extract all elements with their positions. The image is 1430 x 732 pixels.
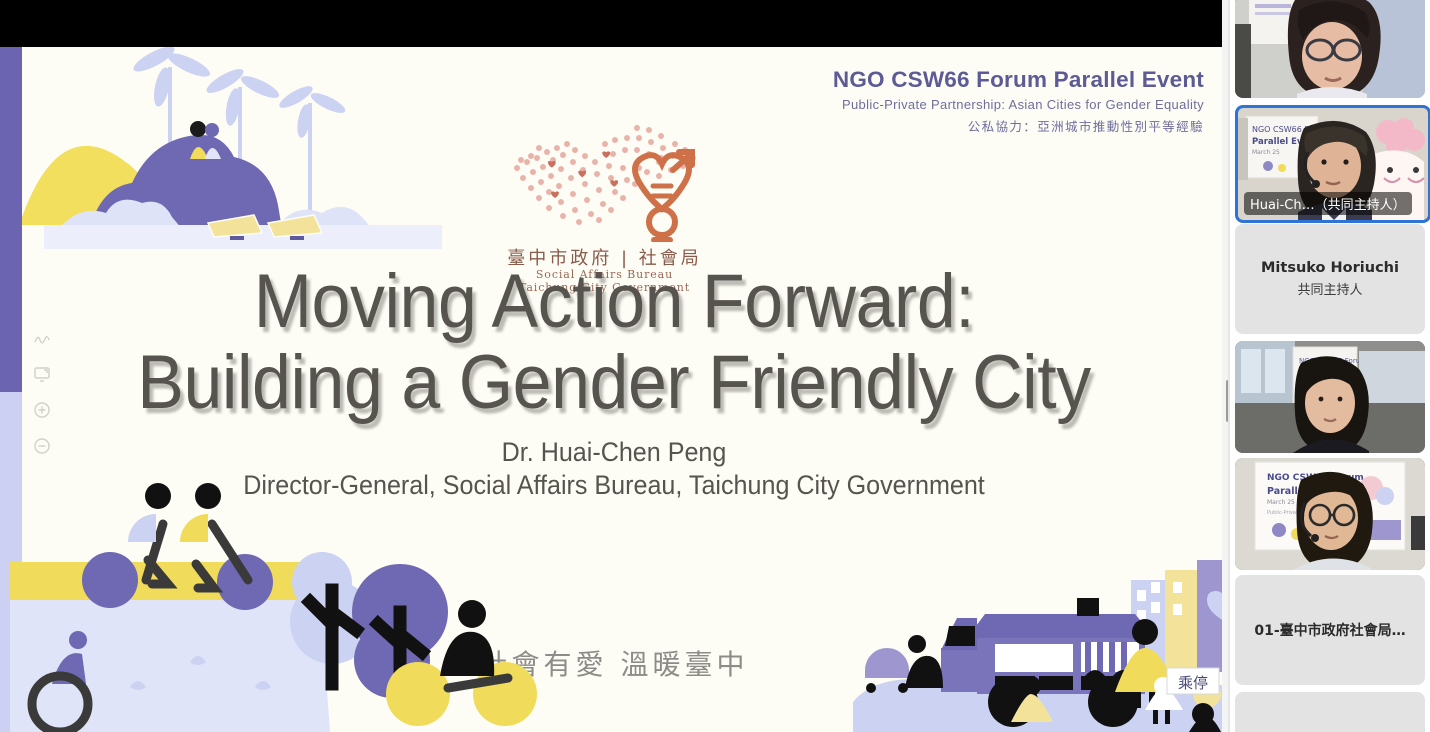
participant-tile[interactable]: Mitsuko Horiuchi 共同主持人 — [1235, 224, 1425, 334]
slide-title-block: Moving Action Forward: Building a Gender… — [0, 262, 1228, 501]
participant-name-label: Mitsuko Horiuchi — [1261, 260, 1399, 276]
slide-title-line1: Moving Action Forward: — [49, 262, 1179, 343]
participant-filmstrip[interactable]: NGO CSW66 F… Parallel Event March 25 — [1230, 0, 1430, 732]
illustration-cyclists-park — [0, 472, 560, 732]
slide-header-title: NGO CSW66 Forum Parallel Event — [833, 67, 1204, 93]
no-video-placeholder — [1235, 692, 1425, 732]
participant-tile[interactable]: NGO CSW66 Forum Parallel Event March 25 … — [1235, 458, 1425, 570]
slide-header: NGO CSW66 Forum Parallel Event Public-Pr… — [833, 67, 1204, 135]
zoom-meeting-window: NGO CSW66 Forum Parallel Event Public-Pr… — [0, 0, 1430, 732]
svg-text:March 25: March 25 — [1267, 499, 1295, 506]
participant-tile[interactable]: NGO CSW66 Forum Parallel Event — [1235, 341, 1425, 453]
video-feed — [1235, 0, 1425, 98]
participant-tile-active-speaker[interactable]: NGO CSW66 F… Parallel Event March 25 — [1235, 105, 1430, 223]
slide-header-subtitle: Public-Private Partnership: Asian Cities… — [833, 97, 1204, 112]
no-video-placeholder: Mitsuko Horiuchi 共同主持人 — [1235, 224, 1425, 334]
zoom-out-icon[interactable] — [28, 428, 56, 464]
slide-title-line2: Building a Gender Friendly City — [49, 343, 1179, 424]
video-feed: NGO CSW66 Forum Parallel Event March 25 … — [1235, 458, 1425, 570]
video-feed: NGO CSW66 Forum Parallel Event — [1235, 341, 1425, 453]
annotation-toolbar[interactable] — [28, 320, 58, 464]
draw-icon[interactable] — [28, 320, 56, 356]
screen-icon[interactable] — [28, 356, 56, 392]
shared-screen-area[interactable]: NGO CSW66 Forum Parallel Event Public-Pr… — [0, 0, 1228, 732]
bus-stop-sign-text: 乘停 — [1178, 674, 1208, 692]
presentation-slide: NGO CSW66 Forum Parallel Event Public-Pr… — [0, 47, 1228, 732]
no-video-placeholder: 01-臺中市政府社會局… — [1235, 575, 1425, 685]
letterbox-bar-top — [0, 0, 1228, 47]
zoom-in-icon[interactable] — [28, 392, 56, 428]
heart-map-logo-icon — [487, 122, 722, 242]
illustration-windfarm — [22, 47, 442, 272]
participant-tile[interactable] — [1235, 0, 1425, 98]
participant-name-label: 01-臺中市政府社會局… — [1254, 620, 1405, 640]
svg-text:March 25: March 25 — [1252, 149, 1280, 156]
slide-header-subtitle-zh: 公私協力：亞洲城市推動性別平等經驗 — [833, 116, 1204, 135]
illustration-food-truck-city: 乘停 — [845, 552, 1228, 732]
participant-name-label: Huai-Ch…（共同主持人） — [1244, 192, 1412, 215]
participant-role-label: 共同主持人 — [1297, 279, 1362, 298]
presenter-name: Dr. Huai-Chen Peng — [43, 437, 1185, 468]
participant-tile[interactable]: 01-臺中市政府社會局… — [1235, 575, 1425, 685]
participant-tile[interactable] — [1235, 692, 1425, 732]
